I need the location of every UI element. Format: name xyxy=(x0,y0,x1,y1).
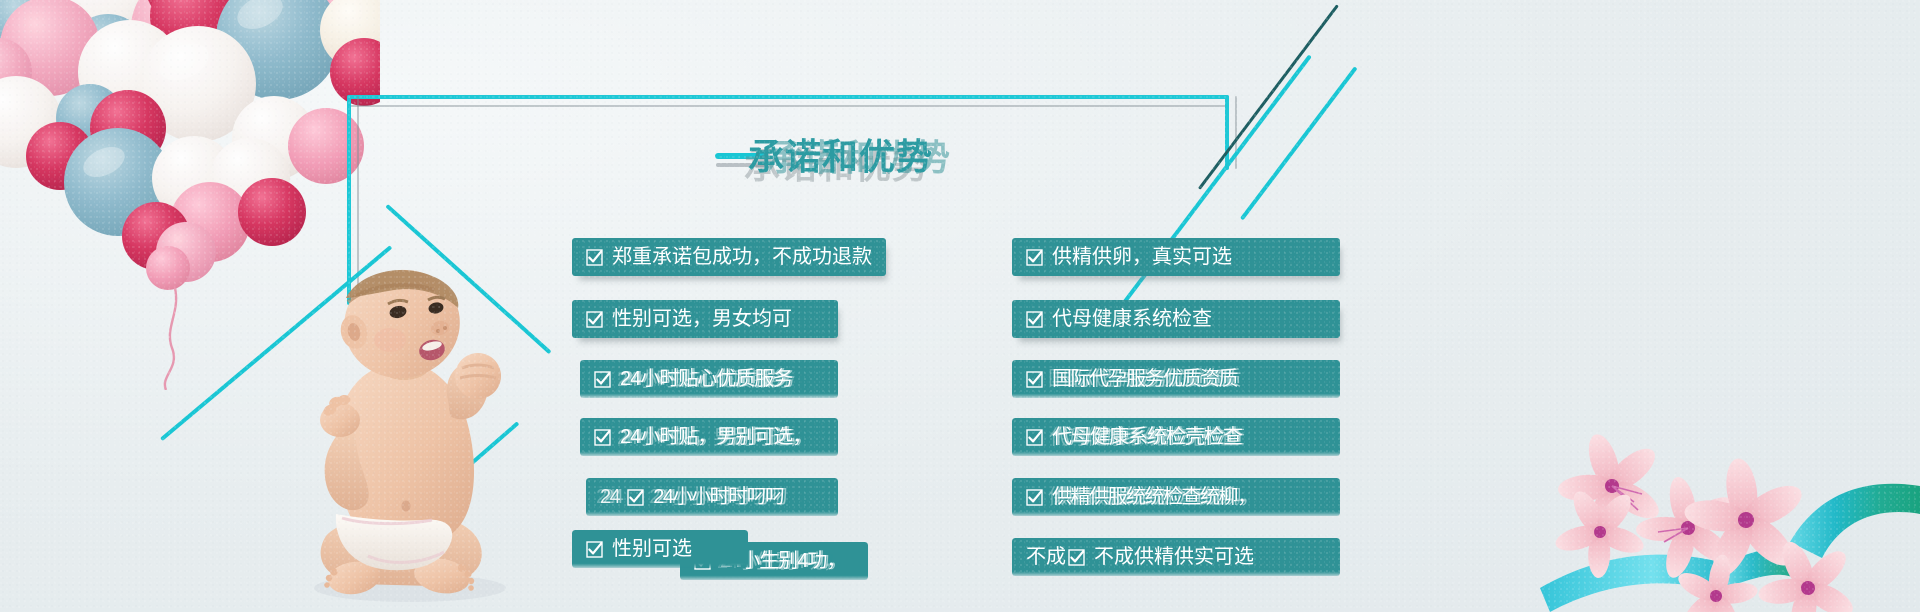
feature-label: 性别可选 xyxy=(612,539,692,559)
check-box-icon xyxy=(1026,371,1043,388)
feature-pill-right-2[interactable]: 代母健康系统检查 xyxy=(1012,300,1340,338)
feature-label-prefix: 不成 xyxy=(1026,547,1066,567)
feature-label: 24小时贴心优质服务 xyxy=(620,369,792,389)
feature-label: 不成供精供实可选 xyxy=(1094,547,1254,567)
feature-pill-left-4[interactable]: 24小时贴，男别可选， xyxy=(580,418,838,456)
check-box-icon xyxy=(1026,429,1043,446)
feature-label: 代母健康系统检查 xyxy=(1052,309,1212,329)
feature-label: 郑重承诺包成功，不成功退款 xyxy=(612,247,872,267)
feature-pill-right-5[interactable]: 供精供服统统检查统柳， xyxy=(1012,478,1340,516)
check-box-icon xyxy=(586,249,603,266)
check-box-icon xyxy=(594,429,611,446)
feature-label: 24小时贴，男别可选， xyxy=(620,427,811,447)
feature-label: 供精供卵，真实可选 xyxy=(1052,247,1232,267)
sitting-baby-icon xyxy=(282,268,542,612)
check-box-icon xyxy=(594,371,611,388)
feature-pill-left-2[interactable]: 性别可选，男女均可 xyxy=(572,300,838,338)
feature-pill-left-6[interactable]: 性别可选 xyxy=(572,530,748,568)
feature-label: 24小小时时叼叼 xyxy=(653,487,783,507)
diagonal-line-right-far xyxy=(1240,66,1358,220)
feature-label: 供精供服统统检查统柳， xyxy=(1052,487,1256,507)
feature-label: 性别可选，男女均可 xyxy=(612,309,792,329)
flowers-ribbon-decoration xyxy=(1540,382,1920,612)
ribbon-teal xyxy=(1790,484,1920,558)
feature-label: 国际代孕服务优质资质 xyxy=(1052,369,1237,389)
check-box-icon xyxy=(1068,549,1085,566)
check-box-icon xyxy=(1026,311,1043,328)
feature-label: 代母健康系统检壳检查 xyxy=(1052,427,1242,447)
feature-pill-right-1[interactable]: 供精供卵，真实可选 xyxy=(1012,238,1340,276)
feature-pill-right-3[interactable]: 国际代孕服务优质资质 xyxy=(1012,360,1340,398)
check-box-icon xyxy=(586,541,603,558)
check-box-icon xyxy=(1026,489,1043,506)
banner-stage: 承诺和优势 承诺和优势 承诺和优势 xyxy=(0,0,1920,612)
check-box-icon xyxy=(586,311,603,328)
check-box-icon xyxy=(1026,249,1043,266)
feature-pill-right-4[interactable]: 代母健康系统检壳检查 xyxy=(1012,418,1340,456)
feature-pill-left-3[interactable]: 24小时贴心优质服务 xyxy=(580,360,838,398)
page-title: 承诺和优势 xyxy=(748,128,933,180)
feature-pill-left-1[interactable]: 郑重承诺包成功，不成功退款 xyxy=(572,238,886,276)
baby-photo-decoration xyxy=(282,268,542,612)
check-box-icon xyxy=(627,489,644,506)
feature-pill-left-5[interactable]: 24 24小小时时叼叼 xyxy=(586,478,838,516)
feature-pill-right-6[interactable]: 不成 不成供精供实可选 xyxy=(1012,538,1340,576)
banner-title-group: 承诺和优势 承诺和优势 承诺和优势 xyxy=(700,128,1220,186)
balloon-string-icon xyxy=(165,284,176,390)
flowers-ribbon-icon xyxy=(1540,382,1920,612)
frame-top-line xyxy=(347,95,1229,99)
feature-label-prefix: 24 xyxy=(600,487,619,507)
